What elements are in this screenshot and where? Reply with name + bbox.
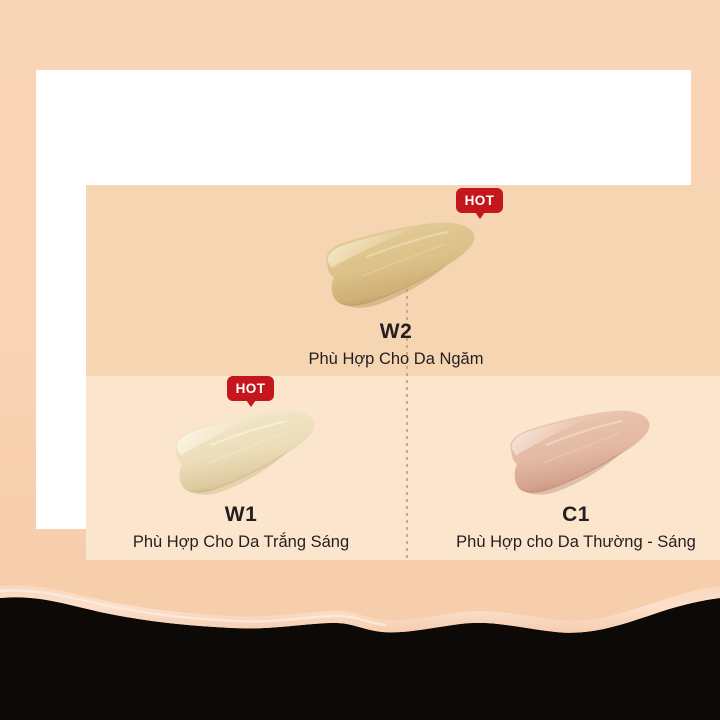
shade-code-w2: W2: [226, 321, 566, 342]
card-frame: HOT: [36, 70, 691, 529]
shade-chart-stage: HOT: [0, 0, 720, 720]
hot-badge-w1: HOT: [227, 376, 274, 401]
swatch-wrap-w1: HOT: [161, 400, 321, 500]
bottom-cream-wave: [0, 520, 720, 720]
swatch-c1: [496, 400, 656, 500]
hot-badge-w2: HOT: [456, 188, 503, 213]
swatch-wrap-c1: [496, 400, 656, 500]
swatch-wrap-w2: HOT: [306, 210, 486, 315]
swatch-w2: [306, 210, 486, 315]
shade-desc-w2: Phù Hợp Cho Da Ngăm: [226, 351, 566, 368]
shade-labels-w2: W2 Phù Hợp Cho Da Ngăm: [226, 321, 566, 368]
shade-cell-w2[interactable]: HOT: [226, 210, 566, 368]
swatch-w1: [161, 400, 321, 500]
